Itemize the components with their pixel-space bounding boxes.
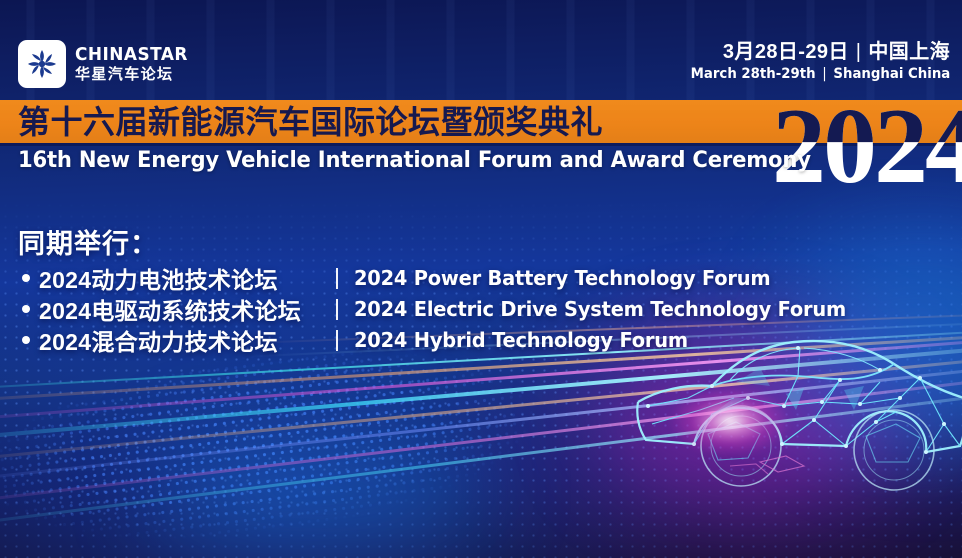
date-separator-en: | <box>815 65 833 84</box>
date-cn-text: 3月28日-29日 <box>723 41 849 63</box>
forum-name-en: 2024 Power Battery Technology Forum <box>354 266 770 290</box>
divider <box>336 330 338 351</box>
forum-name-cn: 2024动力电池技术论坛 <box>39 261 336 295</box>
forum-name-en: 2024 Electric Drive System Technology Fo… <box>354 297 846 321</box>
event-poster: CHINASTAR 华星汽车论坛 3月28日-29日|中国上海 March 28… <box>0 0 962 558</box>
date-separator-cn: | <box>849 40 869 65</box>
bullet-dot-icon <box>22 274 30 282</box>
divider <box>336 268 338 289</box>
brand-name-en: CHINASTAR <box>75 46 188 64</box>
list-item: 2024电驱动系统技术论坛 2024 Electric Drive System… <box>22 294 861 324</box>
year-display-overlay: 2024 <box>632 92 962 204</box>
divider <box>336 299 338 320</box>
forum-name-en: 2024 Hybrid Technology Forum <box>354 328 688 352</box>
forum-name-cn: 2024混合动力技术论坛 <box>39 323 336 357</box>
bullet-dot-icon <box>22 305 30 313</box>
date-en-text: March 28th-29th <box>690 66 815 82</box>
concurrent-events-label: 同期举行： <box>18 222 158 261</box>
location-cn-text: 中国上海 <box>868 41 950 63</box>
brand-logo: CHINASTAR 华星汽车论坛 <box>18 40 195 88</box>
event-date-en: March 28th-29th|Shanghai China <box>690 65 950 84</box>
forum-name-cn: 2024电驱动系统技术论坛 <box>39 292 336 326</box>
star-burst-logo-icon <box>18 40 66 88</box>
event-date-block: 3月28日-29日|中国上海 March 28th-29th|Shanghai … <box>677 40 950 84</box>
list-item: 2024混合动力技术论坛 2024 Hybrid Technology Foru… <box>22 325 861 355</box>
year-navy-layer: 2024 <box>772 92 962 202</box>
list-item: 2024动力电池技术论坛 2024 Power Battery Technolo… <box>22 263 861 293</box>
concurrent-forum-list: 2024动力电池技术论坛 2024 Power Battery Technolo… <box>22 263 861 356</box>
main-title-cn: 第十六届新能源汽车国际论坛暨颁奖典礼 <box>18 100 603 143</box>
location-en-text: Shanghai China <box>833 66 950 82</box>
bullet-dot-icon <box>22 336 30 344</box>
event-date-cn: 3月28日-29日|中国上海 <box>677 40 950 65</box>
brand-name-cn: 华星汽车论坛 <box>75 67 195 82</box>
